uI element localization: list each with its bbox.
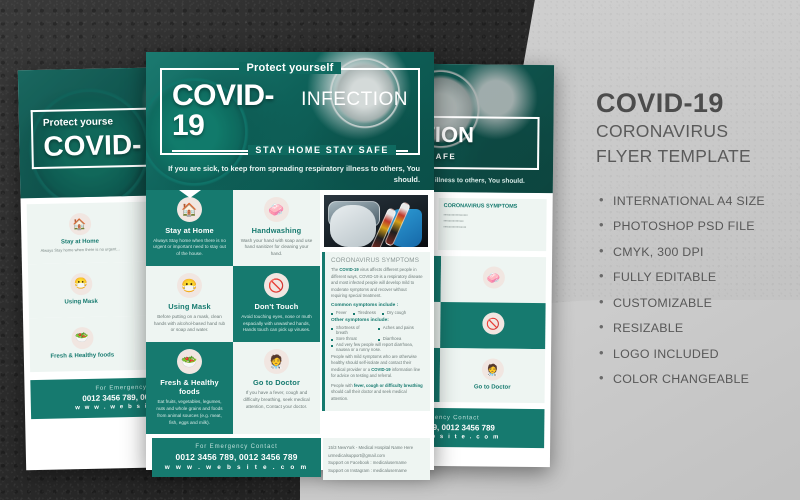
common-symptom-item: Fever — [331, 310, 347, 315]
hero-title-main: COVID-19 — [172, 81, 295, 141]
tips-card-grid: 🏠 Stay at Home Always Stay home when the… — [146, 190, 320, 434]
common-symptom-item: Dry cough — [382, 310, 406, 315]
flyer-hero: Protect yourself COVID-19 INFECTION STAY… — [146, 52, 434, 190]
other-symptom-item: Shortness of breath — [331, 325, 372, 335]
eyebrow-row: Protect yourself — [172, 62, 408, 74]
feature-item-cmyk-dpi: CMYK, 300 DPI — [596, 245, 796, 259]
doctor-icon: 🧑‍⚕️ — [264, 349, 289, 374]
main-flyer[interactable]: Protect yourself COVID-19 INFECTION STAY… — [146, 52, 434, 470]
tip-card-1-text: Always Stay home when there is no urgent… — [153, 238, 226, 259]
tip-card-go-to-doctor[interactable]: 🧑‍⚕️ Go to Doctor If you have a fever, c… — [233, 342, 320, 434]
symptoms-paragraph-2: People with mild symptoms who are otherw… — [331, 354, 424, 380]
handwashing-icon: 🧼 — [264, 197, 289, 222]
contact-line-facebook: Support on Facebook : medicalusername — [328, 459, 425, 467]
symptoms-heading: CORONAVIRUS SYMPTOMS — [331, 257, 424, 264]
hero-tagline: STAY HOME STAY SAFE — [248, 145, 396, 155]
tip-card-4-text: Avoid touching eyes, nose or muth espaci… — [240, 314, 313, 335]
back-left-card-3[interactable]: 😷 Using Mask — [28, 262, 134, 318]
tip-card-healthy-foods[interactable]: 🥗 Fresh & Healthy foods Eat fruits, vege… — [146, 342, 233, 434]
back-left-card-5-title: Fresh & Healthy foods — [36, 352, 129, 360]
tagline-row: STAY HOME STAY SAFE — [172, 145, 408, 155]
other-symptoms-list: Shortness of breath Aches and pains Sore… — [331, 325, 424, 352]
feature-item-psd-file: PHOTOSHOP PSD FILE — [596, 219, 796, 233]
tip-card-2-text: Wash your hand with soap and use hand sa… — [240, 238, 313, 259]
contact-details-block: 15/3 NewYork - Medical Hospital Name Her… — [323, 438, 430, 480]
symptoms-intro: The COVID-19 virus affects different peo… — [331, 267, 424, 300]
hero-title-row: COVID-19 INFECTION — [172, 77, 408, 143]
back-right-panel-heading: CORONAVIRUS SYMPTOMS — [444, 203, 542, 210]
emergency-website: w w w . w e b s i t e . c o m — [160, 464, 313, 471]
face-mask-icon: 😷 — [70, 273, 92, 295]
feature-item-fully-editable: FULLY EDITABLE — [596, 270, 796, 284]
tip-card-2-title: Handwashing — [240, 226, 313, 235]
back-right-card-6[interactable]: 🧑‍⚕️ Go to Doctor — [440, 348, 546, 403]
tip-card-using-mask[interactable]: 😷 Using Mask Before putting on a mask, c… — [146, 266, 233, 342]
info-panel-subtitle-line1: CORONAVIRUS — [596, 120, 796, 143]
feature-item-logo-included: LOGO INCLUDED — [596, 347, 796, 361]
tip-card-6-text: If you have a fever, cough and difficult… — [240, 390, 313, 411]
tip-card-stay-at-home[interactable]: 🏠 Stay at Home Always Stay home when the… — [146, 190, 233, 266]
info-panel: COVID-19 CORONAVIRUS FLYER TEMPLATE INTE… — [596, 88, 796, 398]
no-touch-icon: 🚫 — [482, 312, 504, 334]
doctor-icon: 🧑‍⚕️ — [481, 358, 503, 380]
contact-line-instagram: Support on Instagram : medicalusername — [328, 467, 425, 475]
house-icon: 🏠 — [177, 197, 202, 222]
feature-list: INTERNATIONAL A4 SIZE PHOTOSHOP PSD FILE… — [596, 194, 796, 387]
common-symptoms-list: Fever Tiredness Dry cough — [331, 310, 424, 315]
common-symptoms-heading: Common symptoms include : — [331, 303, 424, 308]
lab-technician-test-tubes-photo — [322, 193, 430, 249]
handwashing-icon: 🧼 — [482, 266, 504, 288]
feature-item-a4-size: INTERNATIONAL A4 SIZE — [596, 194, 796, 208]
other-symptoms-heading: Other symptoms include: — [331, 318, 424, 323]
back-right-card-4[interactable]: 🚫 — [440, 302, 545, 349]
contact-line-email: urmedicalsupport@gmail.com — [328, 452, 425, 460]
tip-card-3-text: Before putting on a mask, clean hands wi… — [153, 314, 226, 335]
face-mask-icon: 😷 — [177, 273, 202, 298]
flyer-right-column: CORONAVIRUS SYMPTOMS The COVID-19 virus … — [320, 190, 434, 411]
back-left-card-5[interactable]: 🥗 Fresh & Healthy foods — [29, 316, 135, 372]
back-left-card-1-title: Stay at Home — [33, 238, 126, 246]
face-shape — [330, 205, 376, 247]
info-panel-subtitle-line2: FLYER TEMPLATE — [596, 145, 796, 168]
back-left-card-3-title: Using Mask — [35, 298, 128, 306]
feature-item-color-changeable: COLOR CHANGEABLE — [596, 372, 796, 386]
back-left-card-1-text: Always Stay home when there is no urgent… — [34, 246, 127, 254]
hero-eyebrow: Protect yourself — [232, 62, 349, 74]
feature-item-resizable: RESIZABLE — [596, 321, 796, 335]
symptoms-paragraph-3: People with fever, cough or difficulty b… — [331, 383, 424, 403]
tip-card-dont-touch[interactable]: 🚫 Don't Touch Avoid touching eyes, nose … — [233, 266, 320, 342]
house-icon: 🏠 — [68, 213, 90, 235]
emergency-label: For Emergency Contact — [160, 444, 313, 450]
tip-card-5-text: Eat fruits, vegetables, legumes, nuts an… — [153, 399, 226, 427]
healthy-food-icon: 🥗 — [71, 327, 93, 349]
feature-item-customizable: CUSTOMIZABLE — [596, 296, 796, 310]
hero-title-sub: INFECTION — [301, 90, 408, 109]
tip-card-6-title: Go to Doctor — [240, 378, 313, 387]
hero-subtitle: If you are sick, to keep from spreading … — [146, 155, 434, 185]
tip-card-3-title: Using Mask — [153, 302, 226, 311]
tip-card-handwashing[interactable]: 🧼 Handwashing Wash your hand with soap a… — [233, 190, 320, 266]
tip-card-4-title: Don't Touch — [240, 302, 313, 311]
back-right-card-6-title: Go to Doctor — [446, 384, 539, 391]
back-right-card-2[interactable]: 🧼 — [441, 256, 546, 303]
flyer-footer-row: For Emergency Contact 0012 3456 789, 001… — [146, 434, 434, 486]
hero-inner: Protect yourself COVID-19 INFECTION STAY… — [146, 52, 434, 155]
info-panel-title: COVID-19 — [596, 88, 796, 118]
emergency-phone-numbers: 0012 3456 789, 0012 3456 789 — [160, 452, 313, 462]
no-touch-icon: 🚫 — [264, 273, 289, 298]
common-symptom-item: Tiredness — [353, 310, 376, 315]
tip-card-5-title: Fresh & Healthy foods — [153, 378, 226, 396]
other-symptom-item: Sore throat — [331, 336, 372, 341]
emergency-contact-block: For Emergency Contact 0012 3456 789, 001… — [152, 438, 321, 477]
healthy-food-icon: 🥗 — [177, 349, 202, 374]
other-symptom-extra: And very few people will report diarrhoe… — [331, 342, 424, 352]
back-left-card-1[interactable]: 🏠 Stay at Home Always Stay home when the… — [27, 202, 133, 264]
symptoms-panel: CORONAVIRUS SYMPTOMS The COVID-19 virus … — [322, 252, 430, 411]
other-symptom-item: Aches and pains — [378, 325, 419, 335]
tip-card-1-title: Stay at Home — [153, 226, 226, 235]
contact-line-address: 15/3 NewYork - Medical Hospital Name Her… — [328, 444, 425, 452]
other-symptom-item: Diarrhoea — [378, 336, 419, 341]
